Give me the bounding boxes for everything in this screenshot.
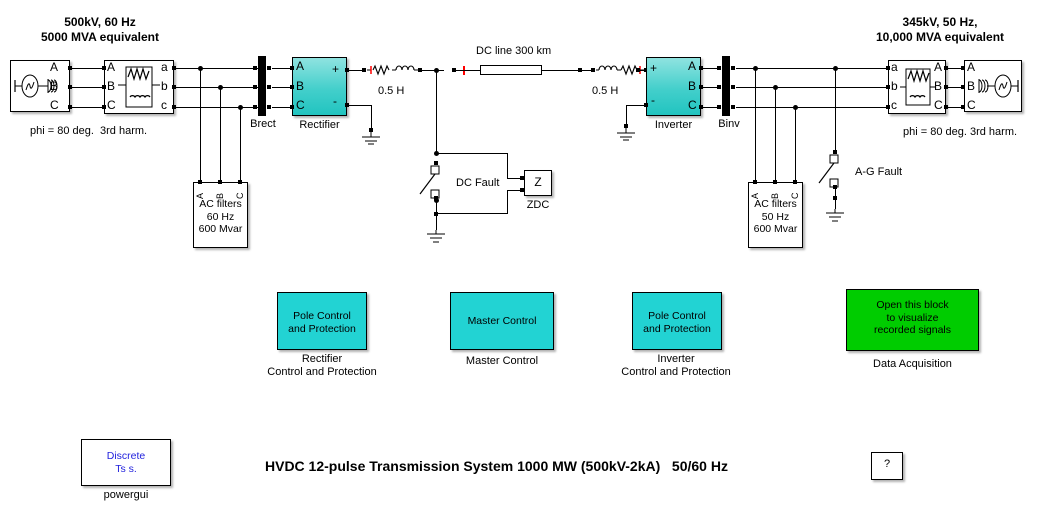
right-transformer-pin-C: C: [934, 99, 943, 112]
inverter-pin-minus: -: [651, 94, 655, 107]
wire: [775, 87, 776, 180]
master-control-label: Master Control: [450, 355, 554, 368]
wire: [736, 68, 888, 69]
wire: [70, 107, 104, 108]
data-acquisition-text: Open this block to visualize recorded si…: [846, 299, 979, 337]
wire: [436, 70, 437, 153]
binv-label: Binv: [706, 118, 752, 131]
dc-line-label: DC line 300 km: [476, 45, 551, 58]
port-marker: [267, 85, 271, 89]
ac-filters-rect-text: AC filters 60 Hz 600 Mvar: [193, 198, 248, 236]
port-marker: [731, 66, 735, 70]
port-marker: [218, 180, 222, 184]
rectifier-control-text: Pole Control and Protection: [277, 310, 367, 335]
port-marker: [753, 180, 757, 184]
wire: [626, 105, 646, 106]
data-acquisition-label: Data Acquisition: [846, 358, 979, 371]
left-transformer-pin-B: B: [107, 80, 115, 93]
wire: [220, 87, 221, 180]
wire: [349, 105, 371, 106]
master-control-text: Master Control: [450, 315, 554, 328]
port-marker: [886, 105, 890, 109]
right-phi-annotation: phi = 80 deg. 3rd harm.: [903, 126, 1017, 139]
port-marker: [591, 68, 595, 72]
left-source-title: 500kV, 60 Hz 5000 MVA equivalent: [10, 15, 190, 45]
port-marker: [102, 85, 106, 89]
wire: [507, 190, 508, 214]
port-marker: [102, 66, 106, 70]
inv-inductor-label: 0.5 H: [592, 85, 618, 98]
brect-busbar[interactable]: [258, 56, 266, 116]
port-marker: [253, 66, 257, 70]
wire: [272, 107, 292, 108]
left-transformer-pin-C: C: [107, 99, 116, 112]
wire: [176, 107, 258, 108]
port-marker: [290, 85, 294, 89]
wire: [507, 190, 521, 191]
right-transformer-pin-a: a: [891, 61, 898, 74]
ac-source-symbol-icon: [977, 62, 1023, 110]
right-source-pin-C: C: [967, 99, 976, 112]
wire: [200, 68, 201, 180]
wire: [422, 70, 444, 71]
powergui-label: powergui: [81, 489, 171, 502]
port-marker: [793, 180, 797, 184]
diagram-title: HVDC 12-pulse Transmission System 1000 M…: [265, 458, 728, 474]
left-source-pin-B: B: [50, 80, 58, 93]
wire: [736, 87, 888, 88]
left-transformer-pin-A: A: [107, 61, 115, 74]
powergui-text: Discrete Ts s.: [81, 450, 171, 475]
port-marker: [267, 105, 271, 109]
port-marker: [253, 105, 257, 109]
inverter-control-label: Inverter Control and Protection: [611, 353, 741, 379]
wire: [436, 213, 508, 214]
inverter-pin-B: B: [688, 80, 696, 93]
port-marker: [886, 66, 890, 70]
ag-fault-breaker-icon: [815, 149, 845, 197]
left-source-pin-A: A: [50, 61, 58, 74]
wire: [70, 87, 104, 88]
left-phi-annotation: phi = 80 deg. 3rd harm.: [30, 125, 147, 138]
wire: [70, 68, 104, 69]
port-marker: [731, 85, 735, 89]
port-marker: [238, 180, 242, 184]
dc-fault-breaker-icon: [416, 160, 446, 208]
rectifier-label: Rectifier: [292, 119, 347, 132]
port-marker: [717, 66, 721, 70]
port-marker: [717, 105, 721, 109]
port-marker: [886, 85, 890, 89]
port-marker: [198, 180, 202, 184]
wire: [456, 70, 480, 71]
transformer-symbol-icon: [118, 63, 162, 111]
smoothing-reactor-rect-icon: [367, 62, 419, 78]
wire: [507, 178, 521, 179]
ac-source-symbol-icon: [12, 62, 68, 110]
wire: [542, 70, 580, 71]
port-marker: [833, 196, 837, 200]
right-source-pin-B: B: [967, 80, 975, 93]
dc-fault-label: DC Fault: [456, 177, 499, 190]
ground-symbol-icon: [614, 128, 638, 142]
left-transformer-pin-b: b: [161, 80, 168, 93]
wire: [272, 68, 292, 69]
left-source-pin-C: C: [50, 99, 59, 112]
help-block-text: ?: [871, 458, 903, 471]
junction-dot: [434, 198, 439, 203]
rectifier-pin-B: B: [296, 80, 304, 93]
inverter-pin-C: C: [688, 99, 697, 112]
ground-symbol-icon: [823, 209, 847, 223]
wire: [272, 87, 292, 88]
inverter-control-text: Pole Control and Protection: [632, 310, 722, 335]
right-transformer-pin-A: A: [934, 61, 942, 74]
port-marker: [290, 105, 294, 109]
simulink-model-canvas: 500kV, 60 Hz 5000 MVA equivalent A B C p…: [0, 0, 1037, 514]
zdc-text: Z: [524, 176, 552, 189]
right-transformer-pin-B: B: [934, 80, 942, 93]
inverter-pin-A: A: [688, 60, 696, 73]
port-marker: [267, 66, 271, 70]
transformer-symbol-icon: [900, 63, 936, 111]
ag-fault-label: A-G Fault: [855, 166, 902, 179]
ground-symbol-icon: [424, 230, 448, 244]
rectifier-control-label: Rectifier Control and Protection: [257, 353, 387, 379]
wire: [795, 107, 796, 180]
inverter-pin-plus: +: [650, 62, 657, 75]
right-transformer-pin-b: b: [891, 80, 898, 93]
right-transformer-pin-c: c: [891, 99, 897, 112]
wire: [176, 68, 258, 69]
port-marker: [362, 68, 366, 72]
inverter-label: Inverter: [646, 119, 701, 132]
zdc-label: ZDC: [522, 199, 554, 212]
port-marker: [290, 66, 294, 70]
rectifier-pin-minus: -: [333, 95, 337, 108]
wire: [736, 107, 888, 108]
rectifier-pin-plus: +: [332, 63, 339, 76]
rect-inductor-label: 0.5 H: [378, 85, 404, 98]
wire: [349, 70, 363, 71]
port-marker: [102, 105, 106, 109]
wire: [436, 153, 508, 154]
rectifier-pin-C: C: [296, 99, 305, 112]
wire: [755, 68, 756, 180]
wire: [835, 68, 836, 150]
brect-label: Brect: [240, 118, 286, 131]
ac-filters-inv-text: AC filters 50 Hz 600 Mvar: [748, 198, 803, 236]
wire: [507, 153, 508, 178]
port-marker: [731, 105, 735, 109]
port-marker: [773, 180, 777, 184]
port-marker: [717, 85, 721, 89]
rectifier-pin-A: A: [296, 60, 304, 73]
left-transformer-pin-c: c: [161, 99, 167, 112]
wire: [176, 87, 258, 88]
binv-busbar[interactable]: [722, 56, 730, 116]
right-source-pin-A: A: [967, 61, 975, 74]
ground-symbol-icon: [359, 132, 383, 146]
right-source-title: 345kV, 50 Hz, 10,000 MVA equivalent: [845, 15, 1035, 45]
dc-line-block[interactable]: [480, 65, 542, 75]
port-marker: [253, 85, 257, 89]
left-transformer-pin-a: a: [161, 61, 168, 74]
